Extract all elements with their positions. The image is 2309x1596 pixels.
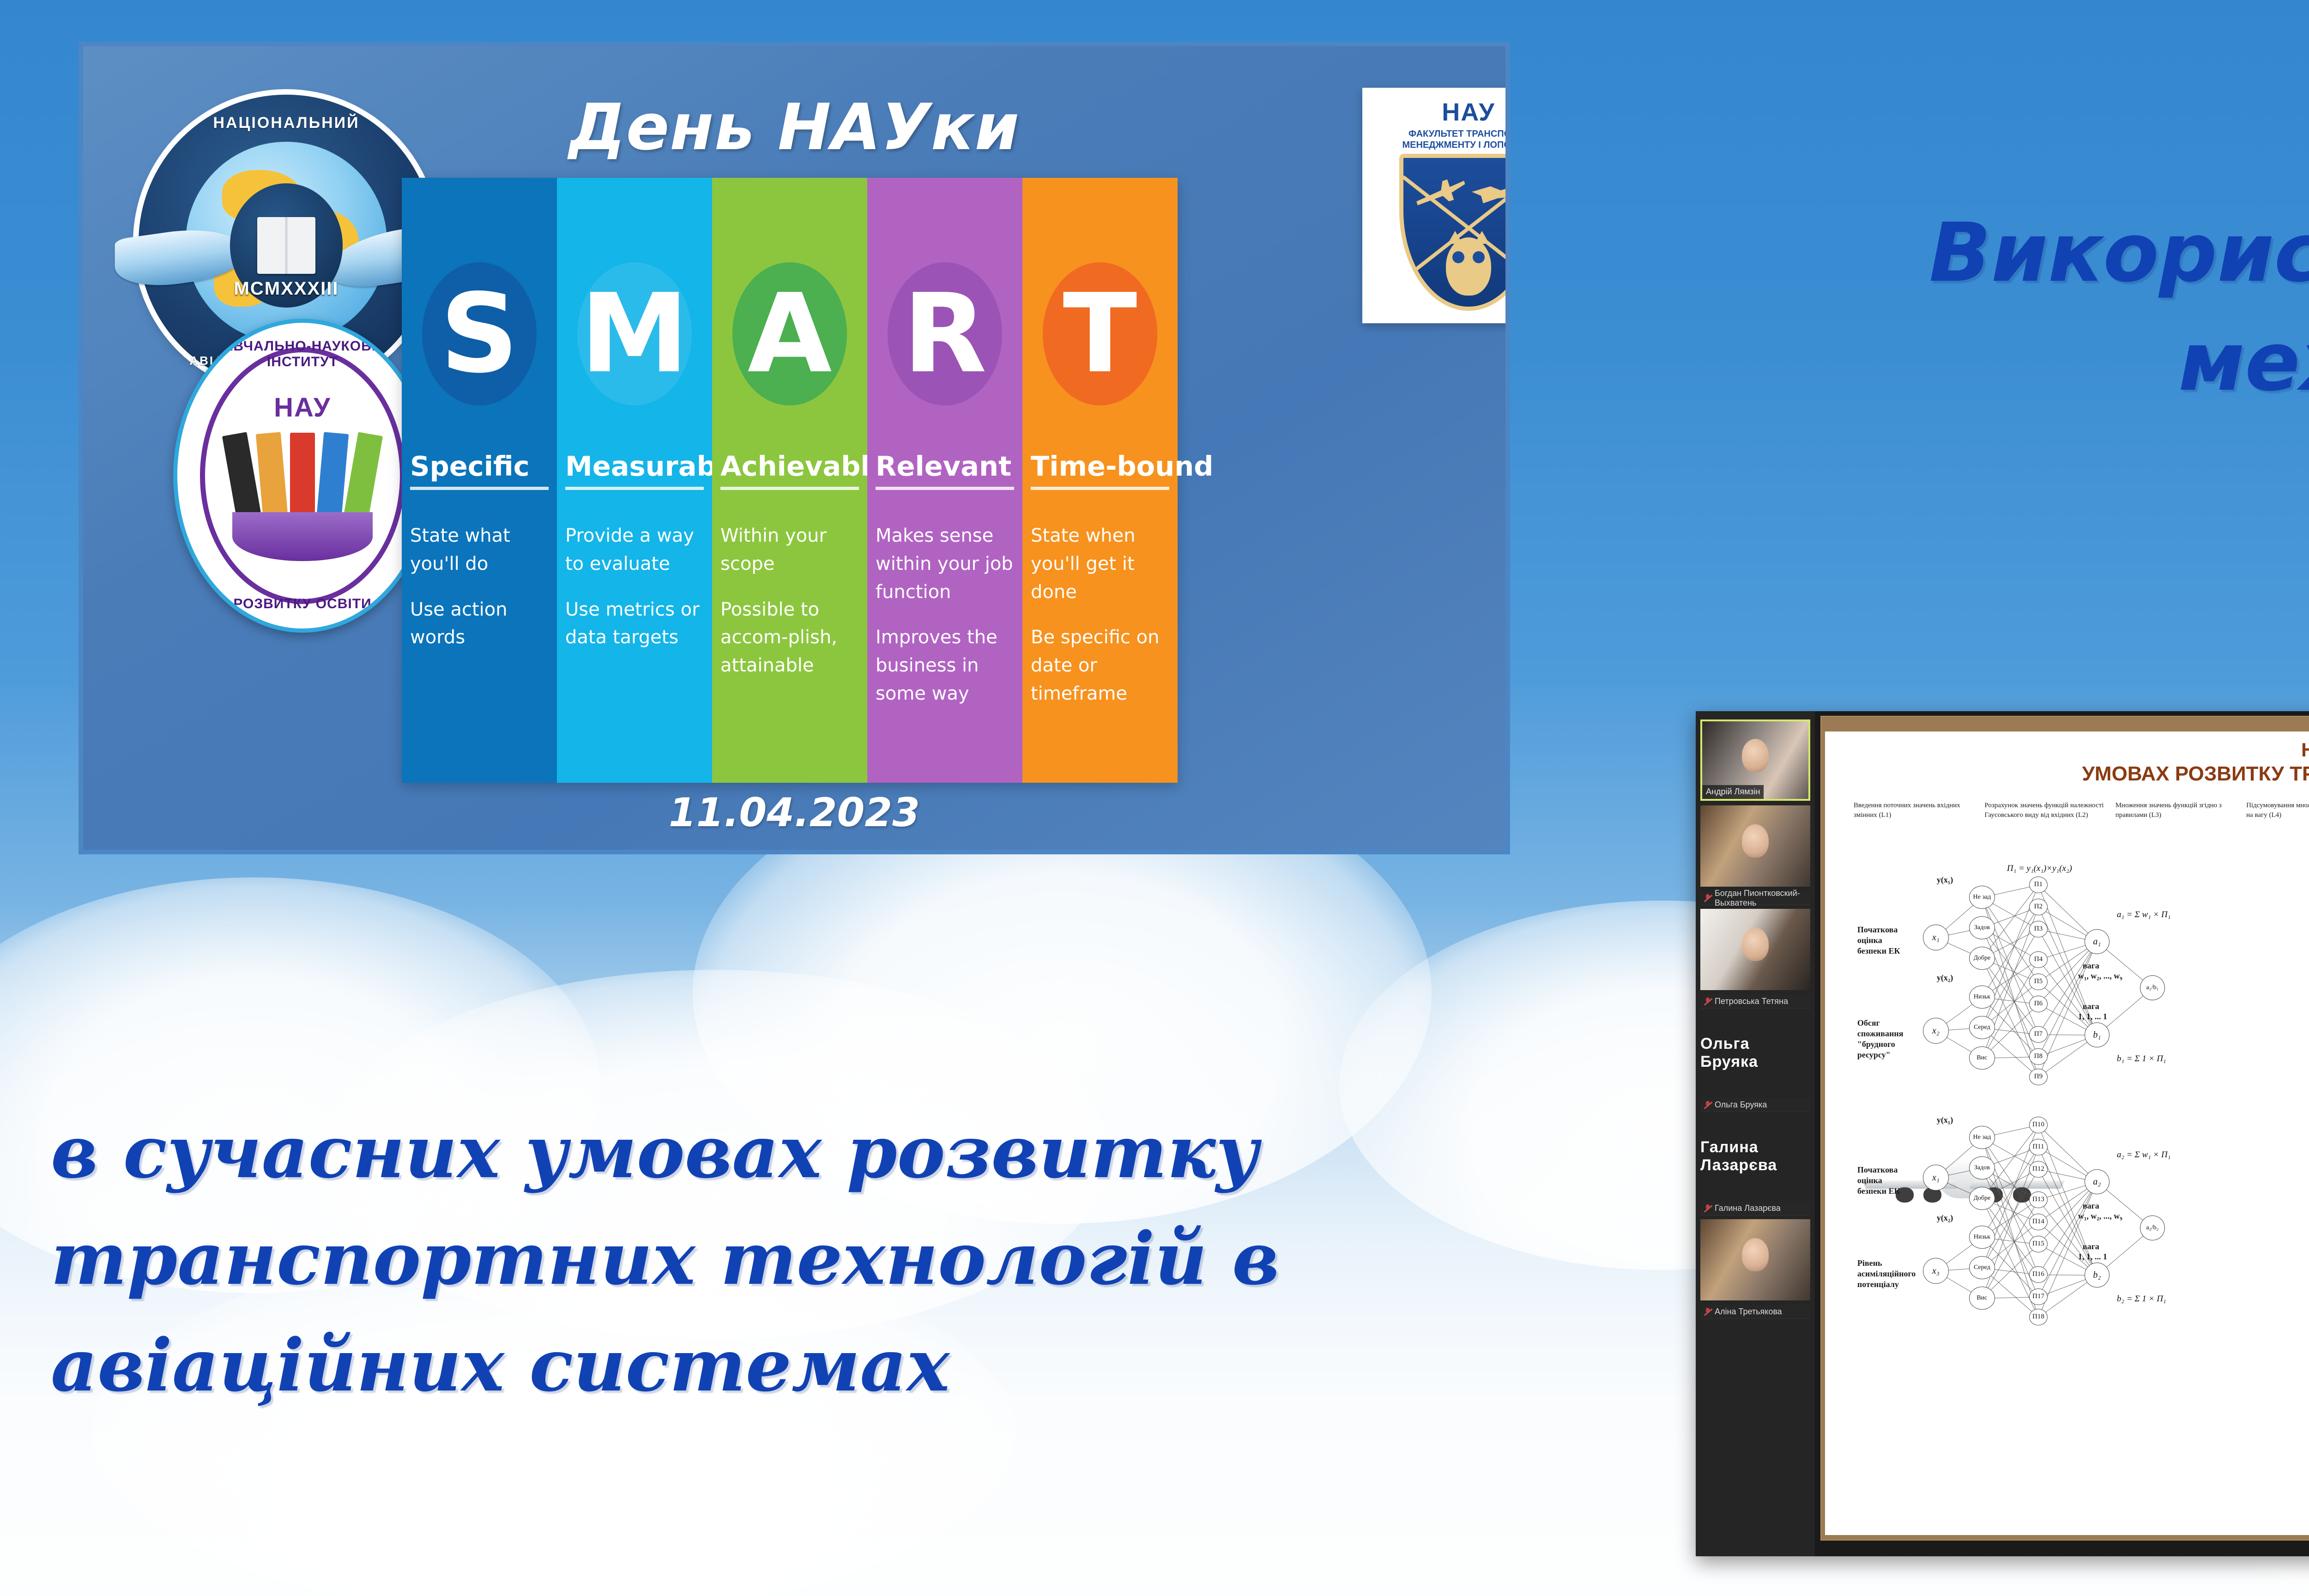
nn-ratio-node: a₁/b₁: [2140, 975, 2165, 1000]
slide-step: Розрахунок значень функцій належності Га…: [1984, 801, 2110, 821]
nn-formula: b₁ = Σ 1 × П₁: [2117, 1054, 2166, 1064]
presentation-subtitle-line2: транспортних технологій в: [51, 1206, 1575, 1312]
nn-label: y(x₂): [1937, 973, 1953, 983]
smart-letter: S: [440, 279, 519, 388]
edu-top-text: НАВЧАЛЬНО-НАУКОВИЙ ІНСТИТУТ: [177, 339, 428, 370]
nn-sum-node: b₁: [2085, 1022, 2110, 1047]
smart-body-line: Be specific on date or timeframe: [1031, 623, 1170, 707]
presentation-subtitle-line3: авіаційних системах: [51, 1312, 1575, 1419]
nn-label: 1, 1, ... 1: [2078, 1011, 2107, 1022]
shared-screen-stage[interactable]: НЕЙРОННА МЕРЕЖА В СУЧАСНИХ УМОВАХ РОЗВИТ…: [1815, 711, 2309, 1556]
nn-membership-node: Вис: [1969, 1287, 1995, 1310]
smart-column-measurable: MMeasurableProvide a way to evaluateUse …: [557, 178, 712, 783]
nn-formula: a₁ = Σ w₁ × П₁: [2117, 910, 2170, 920]
smart-letter-wrap: A: [712, 237, 867, 431]
video-conference-window[interactable]: Андрій ЛямзінБогдан Пионтковский-Выхвате…: [1696, 711, 2309, 1556]
participant-face: [1742, 739, 1769, 772]
smart-column-achievable: AAchievableWithin your scopePossible to …: [712, 178, 867, 783]
nn-product-node: П12: [2029, 1161, 2048, 1178]
smart-heading: Specific: [410, 450, 549, 490]
edu-oval-frame: НАВЧАЛЬНО-НАУКОВИЙ ІНСТИТУТ НАУ РОЗВИТКУ…: [173, 319, 432, 633]
edu-bottom-text: РОЗВИТКУ ОСВІТИ: [177, 596, 428, 612]
nn-membership-node: Добре: [1969, 1187, 1995, 1210]
participant-face: [1742, 1238, 1769, 1271]
participant-tile[interactable]: [1700, 805, 1810, 887]
nn-product-node: П8: [2029, 1048, 2048, 1065]
nn-membership-node: Не зад: [1969, 886, 1995, 909]
smart-body: Provide a way to evaluateUse metrics or …: [565, 522, 705, 669]
nn-label: вага: [2083, 1201, 2099, 1211]
nn-membership-node: Добре: [1969, 947, 1995, 970]
nn-input-node: x₃: [1923, 1258, 1949, 1284]
participant-name-row[interactable]: Петровська Тетяна: [1700, 995, 1810, 1009]
participant-tile[interactable]: [1700, 909, 1810, 990]
smart-body: Within your scopePossible to accom-plish…: [720, 522, 860, 697]
participant-name-row[interactable]: Богдан Пионтковский-Выхватень: [1700, 891, 1810, 905]
smart-letter: A: [748, 279, 832, 388]
participant-name-row[interactable]: Аліна Третьякова: [1700, 1305, 1810, 1319]
participant-name: Аліна Третьякова: [1715, 1307, 1782, 1317]
slide-step: Введення поточних значень вхідних змінни…: [1854, 801, 1980, 821]
smart-body-line: Possible to accom-plish, attainable: [720, 596, 860, 680]
nn-membership-node: Низьк: [1969, 985, 1995, 1009]
nn-label: w₁, w₂, ..., w₉: [2078, 1211, 2122, 1221]
nn-membership-node: Низьк: [1969, 1226, 1995, 1249]
nn-label: Початкова оцінка безпеки ЕК: [1857, 925, 1913, 956]
smart-body-line: Makes sense within your job function: [876, 522, 1015, 606]
smart-body: State when you'll get it doneBe specific…: [1031, 522, 1170, 725]
nn-product-node: П18: [2029, 1309, 2048, 1325]
nn-label: y(x₂): [1937, 1213, 1953, 1223]
participant-video: [1700, 805, 1810, 887]
nn-product-node: П2: [2029, 899, 2048, 915]
smart-heading: Relevant: [876, 450, 1014, 490]
nn-membership-node: Вис: [1969, 1046, 1995, 1070]
slide-step-labels: Введення поточних значень вхідних змінни…: [1854, 801, 2309, 821]
participant-face: [1742, 928, 1769, 961]
nn-product-node: П15: [2029, 1236, 2048, 1252]
nn-membership-node: Задов: [1969, 916, 1995, 939]
nn-edge: [1982, 1200, 2038, 1298]
slide-frame: НЕЙРОННА МЕРЕЖА В СУЧАСНИХ УМОВАХ РОЗВИТ…: [1820, 716, 2309, 1541]
faculty-subtitle: ФАКУЛЬТЕТ ТРАНСПОРТУ МЕНЕДЖМЕНТУ І ЛОПСТ…: [1375, 128, 1510, 151]
smart-criteria-chart: SSpecificState what you'll doUse action …: [402, 178, 1178, 783]
nn-sum-node: a₂: [2085, 1169, 2110, 1194]
participant-video: [1700, 909, 1810, 990]
slide-step: Множення значень функцій згідно з правил…: [2116, 801, 2242, 821]
nn-product-node: П1: [2029, 877, 2048, 893]
smart-body-line: State when you'll get it done: [1031, 522, 1170, 606]
participant-name: Ольга Бруяка: [1715, 1100, 1767, 1110]
nn-product-node: П7: [2029, 1026, 2048, 1043]
mic-off-icon: [1704, 1307, 1711, 1317]
smart-heading: Measurable: [565, 450, 704, 490]
smart-body-line: Within your scope: [720, 522, 860, 578]
neural-network-diagram-lower: Початкова оцінка безпеки ЕКРівень асиміл…: [1854, 1110, 2309, 1350]
smart-letter: T: [1063, 279, 1137, 388]
smart-body-line: Use action words: [410, 596, 550, 652]
participant-name-overlay: Андрій Лямзін: [1702, 785, 1764, 799]
nn-label: Обсяг споживання "брудного ресурсу": [1857, 1018, 1917, 1060]
nn-formula: b₂ = Σ 1 × П₁: [2117, 1294, 2166, 1304]
nn-label: Початкова оцінка безпеки ЕК: [1857, 1165, 1913, 1197]
nn-label: y(x₁): [1937, 1115, 1953, 1125]
smart-letter-bubble: M: [577, 262, 692, 405]
participant-name-placeholder[interactable]: Галина Лазарєва: [1700, 1116, 1810, 1197]
nn-membership-node: Задов: [1969, 1156, 1995, 1179]
nn-label: y(x₁): [1937, 875, 1953, 885]
science-day-poster: День НАУки НАЦІОНАЛЬНИЙ MCMXXXIII АВІАЦІ…: [79, 42, 1510, 854]
shield-icon: [1399, 154, 1510, 311]
participant-name-placeholder[interactable]: Ольга Бруяка: [1700, 1012, 1810, 1094]
nn-product-node: П11: [2029, 1139, 2048, 1155]
nn-label: вага: [2083, 961, 2099, 971]
participant-name: Галина Лазарєва: [1715, 1203, 1781, 1213]
nn-product-node: П10: [2029, 1117, 2048, 1133]
participant-video: [1700, 1219, 1810, 1300]
seal-top-text: НАЦІОНАЛЬНИЙ: [139, 114, 434, 132]
smart-letter-bubble: S: [422, 262, 537, 405]
presentation-slide: НЕЙРОННА МЕРЕЖА В СУЧАСНИХ УМОВАХ РОЗВИТ…: [1825, 731, 2309, 1535]
participant-name-row[interactable]: Галина Лазарєва: [1700, 1202, 1810, 1215]
poster-date: 11.04.2023: [83, 790, 1505, 836]
smart-body-line: State what you'll do: [410, 522, 550, 578]
nn-sum-node: b₂: [2085, 1263, 2110, 1288]
nn-product-node: П5: [2029, 973, 2048, 990]
nn-input-node: x₂: [1923, 1018, 1949, 1044]
nn-label: 1, 1, ... 1: [2078, 1251, 2107, 1262]
mic-off-icon: [1704, 894, 1711, 903]
nn-ratio-node: a₂/b₂: [2140, 1215, 2165, 1240]
seal-year-text: MCMXXXIII: [139, 278, 434, 299]
smart-body: State what you'll doUse action words: [410, 522, 550, 669]
smart-letter-wrap: M: [557, 237, 712, 431]
slide-title-line2: УМОВАХ РОЗВИТКУ ТРАНСПОРТНИХ ТЕХНОЛОГІЙ …: [1864, 762, 2309, 786]
presentation-subtitle: в сучасних умовах розвитку транспортних …: [51, 1099, 1575, 1419]
open-book-icon: [237, 433, 368, 525]
education-institute-logo: НАВЧАЛЬНО-НАУКОВИЙ ІНСТИТУТ НАУ РОЗВИТКУ…: [173, 319, 432, 633]
nn-product-node: П9: [2029, 1069, 2048, 1085]
owl-icon: [1446, 237, 1491, 296]
participant-name-row[interactable]: Ольга Бруяка: [1700, 1098, 1810, 1112]
nn-formula: a₂ = Σ w₁ × П₁: [2117, 1150, 2170, 1160]
smart-body: Makes sense within your job functionImpr…: [876, 522, 1015, 725]
slide-step: Підсумовування множення помножених на ва…: [2246, 801, 2309, 821]
faculty-title: НАУ: [1442, 98, 1495, 127]
mic-off-icon: [1704, 1204, 1711, 1213]
smart-letter-bubble: A: [732, 262, 847, 405]
nn-label: вага: [2083, 1241, 2099, 1252]
participant-name: Петровська Тетяна: [1715, 997, 1788, 1006]
mic-off-icon: [1704, 1100, 1711, 1110]
nn-input-node: x₁: [1923, 925, 1949, 950]
smart-body-line: Use metrics or data targets: [565, 596, 705, 652]
nn-product-node: П14: [2029, 1214, 2048, 1230]
nn-product-node: П16: [2029, 1266, 2048, 1283]
nn-label: Рівень асиміляційного потенціалу: [1857, 1258, 1917, 1290]
neural-network-diagram-upper: Початкова оцінка безпеки ЕКОбсяг спожива…: [1854, 870, 2309, 1110]
nn-label: вага: [2083, 1001, 2099, 1012]
smart-column-relevant: RRelevantMakes sense within your job fun…: [867, 178, 1022, 783]
smart-letter-wrap: R: [867, 237, 1022, 431]
nn-membership-node: Не зад: [1969, 1126, 1995, 1149]
edu-nau-text: НАУ: [177, 392, 428, 423]
participant-face: [1742, 824, 1769, 858]
smart-column-time-bound: TTime-boundState when you'll get it done…: [1022, 178, 1178, 783]
smart-body-line: Improves the business in some way: [876, 623, 1015, 707]
slide-title: НЕЙРОННА МЕРЕЖА В СУЧАСНИХ УМОВАХ РОЗВИТ…: [1864, 738, 2309, 786]
smart-column-specific: SSpecificState what you'll doUse action …: [402, 178, 557, 783]
smart-letter-bubble: T: [1043, 262, 1157, 405]
faculty-logo-card: НАУ ФАКУЛЬТЕТ ТРАНСПОРТУ МЕНЕДЖМЕНТУ І Л…: [1362, 88, 1510, 323]
participant-name: Богдан Пионтковский-Выхватень: [1715, 889, 1807, 908]
smart-heading: Achievable: [720, 450, 859, 490]
nn-product-node: П4: [2029, 951, 2048, 968]
participant-tile[interactable]: Андрій Лямзін: [1700, 719, 1810, 801]
nn-product-node: П6: [2029, 996, 2048, 1012]
bird-icon: [1472, 182, 1510, 207]
slide-title-line1: НЕЙРОННА МЕРЕЖА В СУЧАСНИХ: [1864, 738, 2309, 762]
presentation-title-line1: Використання SMART: [1704, 199, 2309, 308]
presentation-subtitle-line1: в сучасних умовах розвитку: [51, 1099, 1575, 1206]
book-icon: [257, 217, 315, 274]
mic-off-icon: [1704, 997, 1711, 1006]
participants-sidebar[interactable]: Андрій ЛямзінБогдан Пионтковский-Выхвате…: [1696, 711, 1815, 1556]
smart-heading: Time-bound: [1031, 450, 1169, 490]
smart-letter: R: [903, 279, 987, 388]
nn-label: w₁, w₂, ..., w₉: [2078, 971, 2122, 981]
smart-letter-bubble: R: [888, 262, 1002, 405]
nn-product-node: П17: [2029, 1288, 2048, 1305]
participant-tile[interactable]: [1700, 1219, 1810, 1300]
nn-product-node: П13: [2029, 1191, 2048, 1208]
smart-letter-wrap: T: [1022, 237, 1178, 431]
presentation-title-line2: механізмів: [1704, 308, 2309, 417]
nn-formula: П₁ = y₁(x₁)×y₁(x₂): [2007, 864, 2072, 874]
nn-input-node: x₁: [1923, 1165, 1949, 1191]
nn-membership-node: Серед: [1969, 1256, 1995, 1279]
presentation-title: Використання SMART механізмів: [1704, 199, 2309, 417]
nn-sum-node: a₁: [2085, 929, 2110, 954]
smart-letter: M: [580, 279, 689, 388]
smart-body-line: Provide a way to evaluate: [565, 522, 705, 578]
smart-letter-wrap: S: [402, 237, 557, 431]
nn-edge: [1982, 960, 2038, 1058]
nn-product-node: П3: [2029, 921, 2048, 937]
hand-icon: [232, 512, 373, 561]
nn-membership-node: Серед: [1969, 1016, 1995, 1039]
